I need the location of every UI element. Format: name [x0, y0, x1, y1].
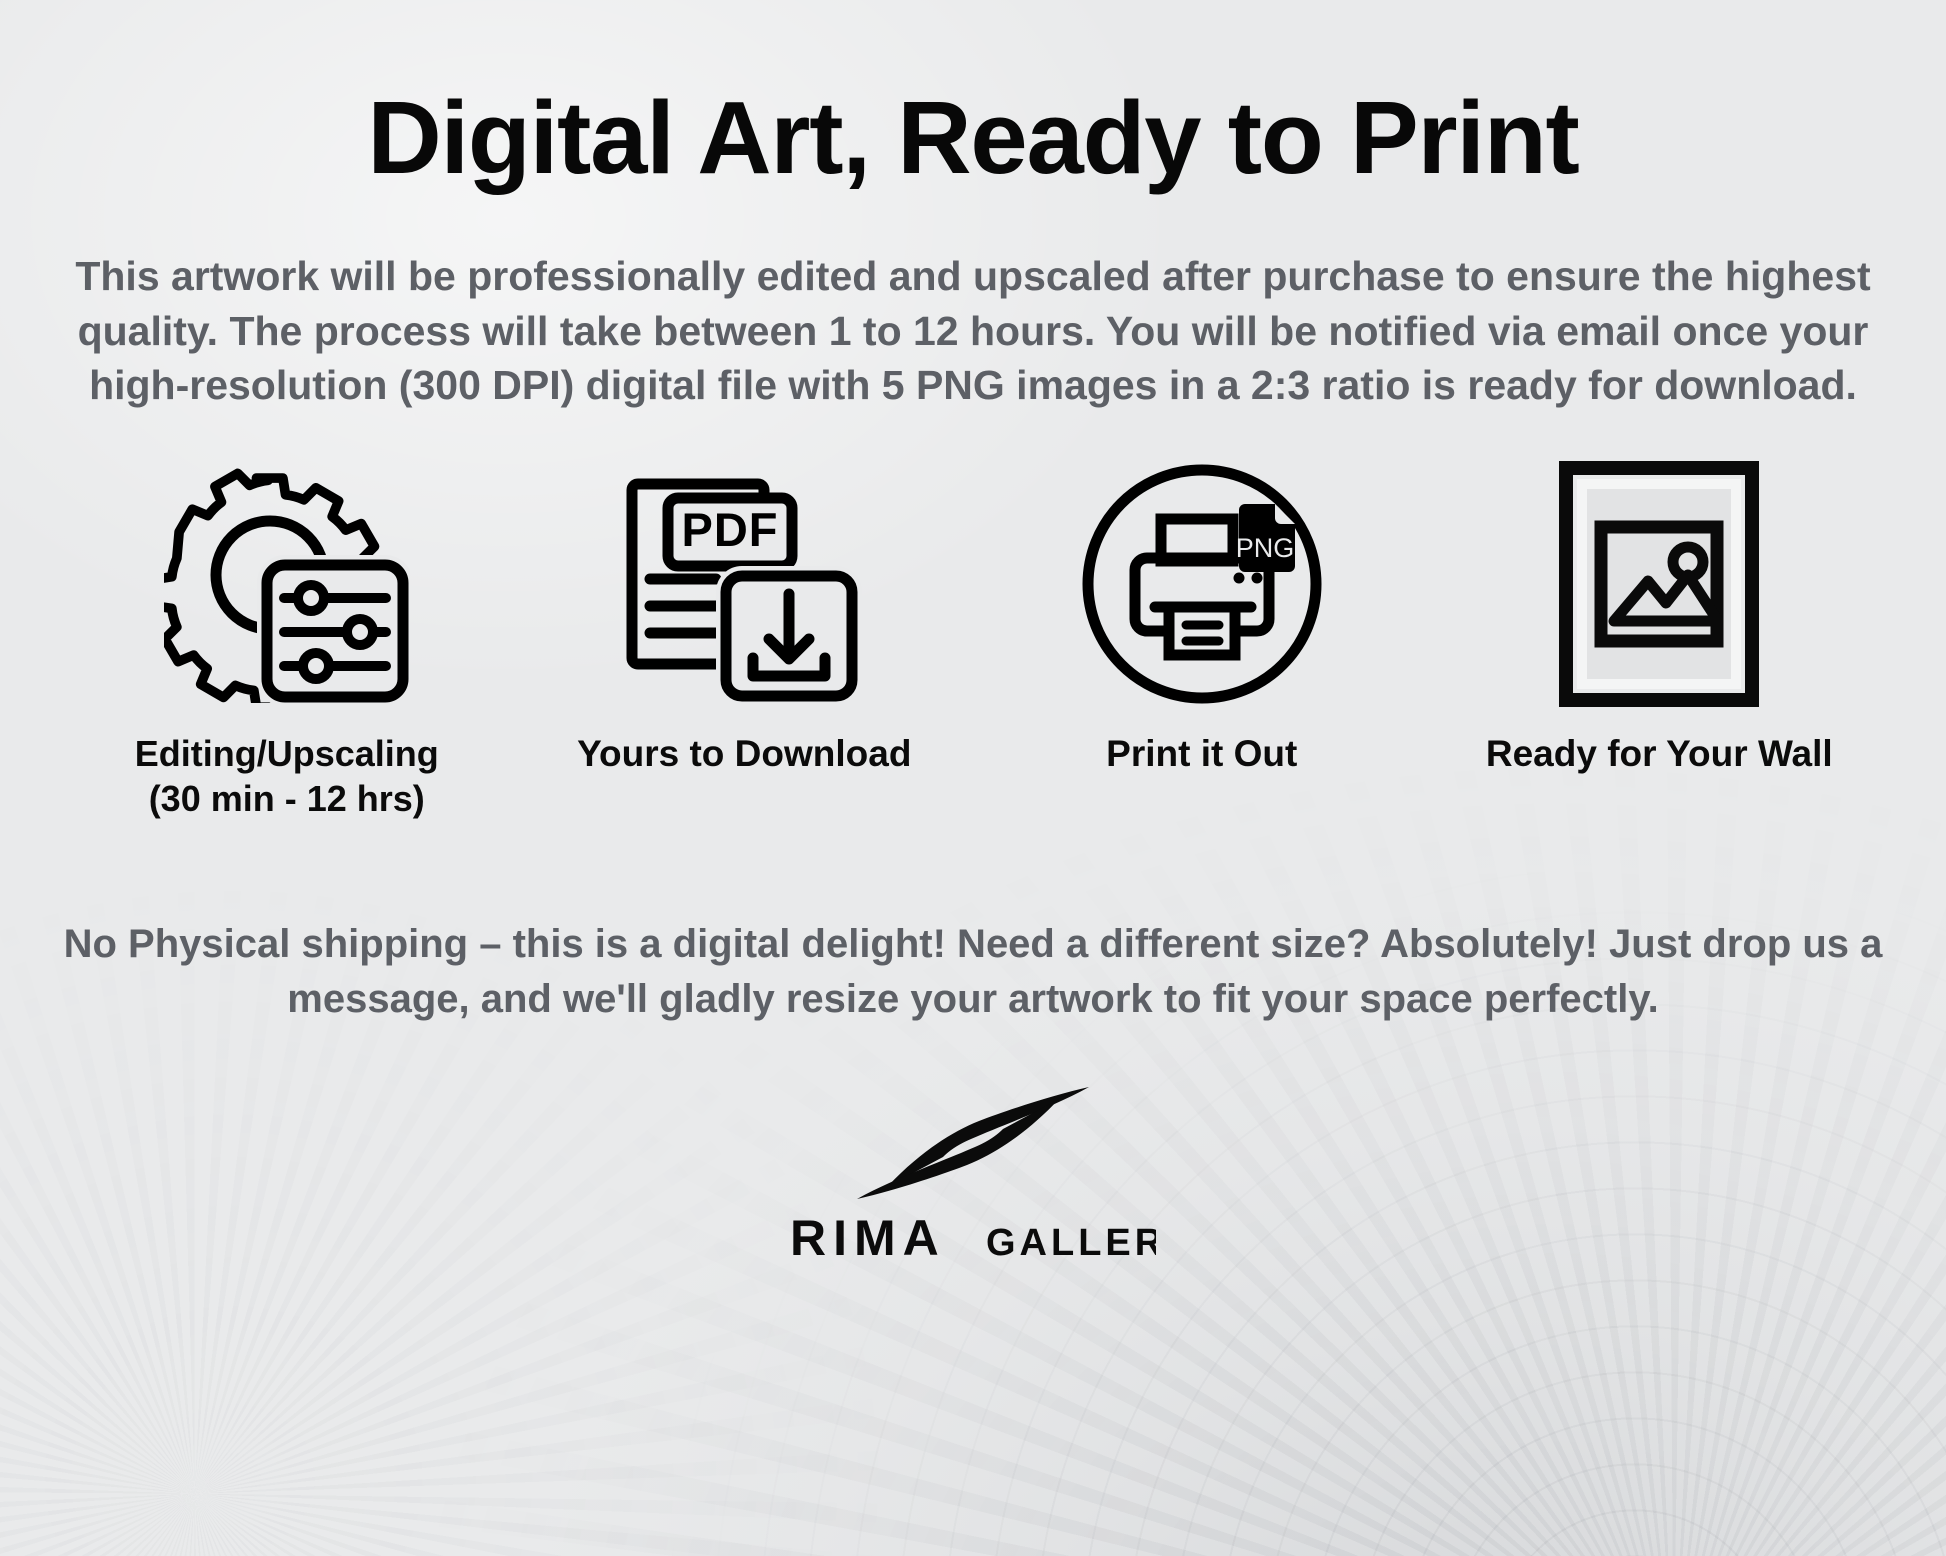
feature-item-editing: Editing/Upscaling (30 min - 12 hrs): [58, 459, 516, 821]
gear-sliders-icon: [164, 459, 410, 709]
logo-wordmark-graphic: RIMA GALLERY: [790, 1209, 1156, 1267]
feature-label: Yours to Download: [577, 731, 911, 777]
feature-item-download: PDF Yours to Download: [516, 459, 974, 777]
printer-circle-icon: PNG: [1079, 459, 1325, 709]
page-title: Digital Art, Ready to Print: [367, 0, 1578, 189]
feature-item-print: PNG Print it Out: [973, 459, 1431, 777]
rima-swoosh-mark: [853, 1081, 1093, 1205]
promo-graphic: Digital Art, Ready to Print This artwork…: [0, 0, 1946, 1556]
feature-row: Editing/Upscaling (30 min - 12 hrs) PDF: [58, 459, 1888, 821]
png-badge-text: PNG: [1235, 533, 1294, 563]
intro-paragraph: This artwork will be professionally edit…: [73, 189, 1873, 413]
framed-picture-icon: [1559, 459, 1759, 709]
logo-name-secondary: GALLERY: [986, 1222, 1156, 1264]
feature-label: Editing/Upscaling (30 min - 12 hrs): [135, 731, 439, 821]
brand-logo: RIMA GALLERY: [790, 1081, 1156, 1267]
feature-item-wall: Ready for Your Wall: [1431, 459, 1889, 777]
logo-wordmark: RIMA GALLERY: [790, 1209, 1156, 1267]
feature-label: Ready for Your Wall: [1486, 731, 1833, 777]
outro-paragraph: No Physical shipping – this is a digital…: [58, 821, 1888, 1027]
logo-name-primary: RIMA: [790, 1210, 946, 1266]
content-area: Digital Art, Ready to Print This artwork…: [0, 0, 1946, 1556]
feature-label: Print it Out: [1106, 731, 1297, 777]
pdf-download-icon: PDF: [626, 459, 862, 709]
pdf-badge-text: PDF: [682, 503, 779, 556]
